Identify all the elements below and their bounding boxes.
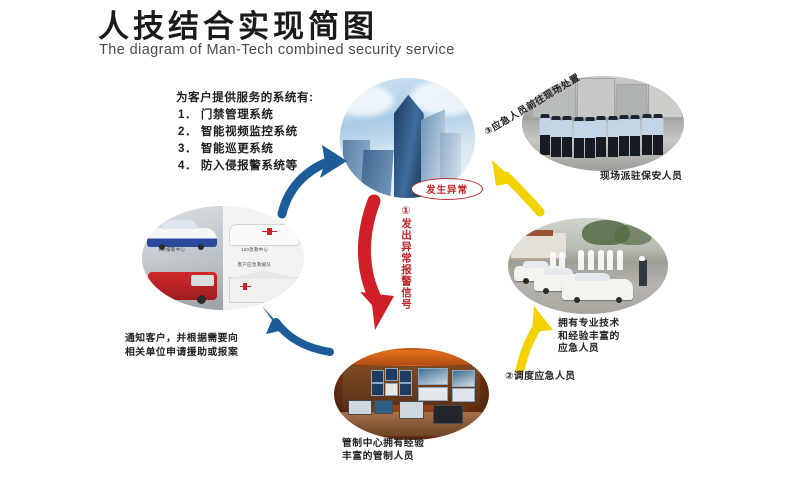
page-title-cn: 人技结合实现简图 bbox=[98, 8, 378, 46]
caption-line: 相关单位申请援助或报案 bbox=[125, 347, 238, 358]
badge-abnormal-event: 发生异常 bbox=[411, 178, 483, 200]
page-subtitle-en: The diagram of Man-Tech combined securit… bbox=[99, 42, 455, 58]
tile-label: 120急救中心 bbox=[241, 247, 268, 253]
caption-line: 拥有专业技术 bbox=[558, 318, 620, 329]
service-list-item: 1． 门禁管理系统 bbox=[176, 107, 314, 124]
arrow-yellow-up bbox=[520, 306, 553, 370]
tile-label: 客户应急救援队 bbox=[238, 262, 272, 268]
caption-line: 管制中心拥有经验 bbox=[342, 438, 424, 449]
service-list-item: 2． 智能视频监控系统 bbox=[176, 124, 314, 141]
flow-label-step1: ①发出异常报警信号 bbox=[396, 205, 412, 310]
service-list-item: 3． 智能巡更系统 bbox=[176, 141, 314, 158]
photo-patrol-cars bbox=[508, 218, 668, 314]
service-list-item: 4． 防入侵报警系统等 bbox=[176, 158, 314, 175]
flow-label-step2: ②调度应急人员 bbox=[505, 370, 576, 384]
caption-line: 通知客户，并根据需要向 bbox=[125, 333, 238, 344]
caption-guards: 现场派驻保安人员 bbox=[600, 170, 682, 184]
arrow-blue-up-left bbox=[262, 306, 330, 352]
photo-emergency-services: 110报警中心 120急救中心 客户应急救援队 bbox=[142, 206, 304, 310]
arrow-red-down bbox=[360, 201, 394, 330]
tile-label: 110报警中心 bbox=[158, 247, 185, 253]
diagram-canvas: 人技结合实现简图 The diagram of Man-Tech combine… bbox=[0, 0, 802, 477]
caption-notify-client: 通知客户，并根据需要向 相关单位申请援助或报案 bbox=[125, 332, 238, 360]
service-list-heading: 为客户提供服务的系统有: bbox=[176, 90, 314, 107]
caption-line: 应急人员 bbox=[558, 343, 599, 354]
caption-control-room: 管制中心拥有经验 丰富的管制人员 bbox=[342, 437, 424, 463]
caption-emergency-team: 拥有专业技术 和经验丰富的 应急人员 bbox=[558, 318, 620, 356]
caption-line: 丰富的管制人员 bbox=[342, 451, 414, 462]
photo-control-room bbox=[334, 348, 489, 440]
service-system-list: 为客户提供服务的系统有: 1． 门禁管理系统 2． 智能视频监控系统 3． 智能… bbox=[176, 90, 314, 175]
caption-line: 和经验丰富的 bbox=[558, 331, 620, 342]
